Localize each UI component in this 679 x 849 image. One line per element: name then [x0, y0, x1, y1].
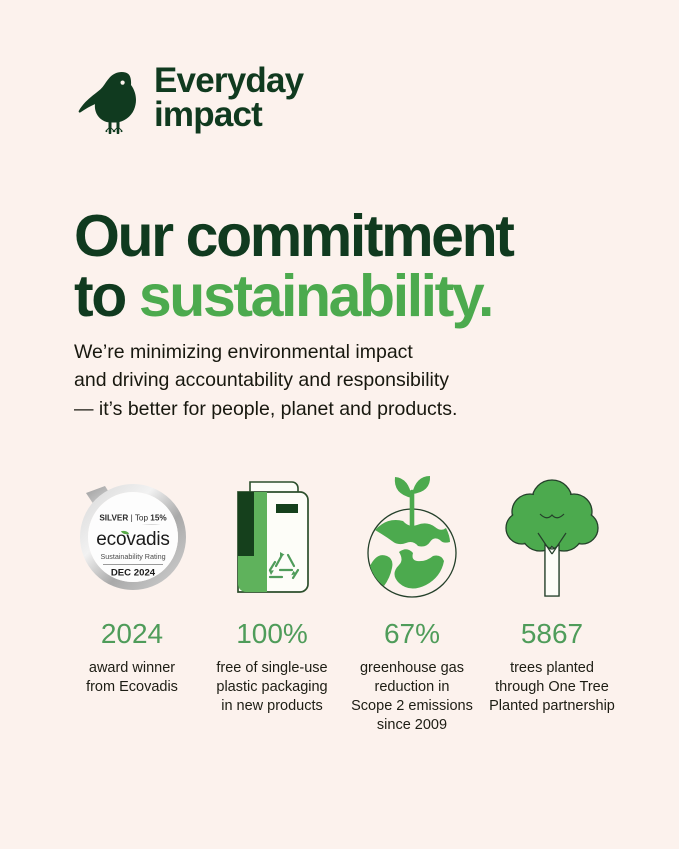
- svg-text:DEC 2024: DEC 2024: [111, 568, 156, 579]
- ecovadis-medal-icon: SILVER | Top 15% ecovadis Sustainability…: [72, 468, 192, 604]
- stat-caption: free of single-use plastic packaging in …: [216, 659, 327, 716]
- brand-name-line2: impact: [154, 98, 303, 132]
- page-title: Our commitment to sustainability.: [74, 206, 634, 326]
- stat-value: 67%: [384, 620, 440, 648]
- tree-icon: [502, 468, 602, 604]
- brand-wordmark: Everyday impact: [154, 64, 303, 133]
- caption-line: greenhouse gas: [351, 659, 473, 678]
- caption-line: since 2009: [351, 716, 473, 735]
- svg-text:ecovadis: ecovadis: [96, 529, 169, 550]
- caption-line: through One Tree: [489, 678, 615, 697]
- stat-caption: trees planted through One Tree Planted p…: [489, 659, 615, 716]
- stats-row: SILVER | Top 15% ecovadis Sustainability…: [62, 468, 622, 736]
- intro-line-2: and driving accountability and responsib…: [74, 366, 594, 395]
- intro-paragraph: We’re minimizing environmental impact an…: [74, 338, 594, 424]
- recyclable-packaging-icon: [224, 468, 320, 604]
- brand-logo: Everyday impact: [78, 62, 303, 134]
- caption-line: reduction in: [351, 678, 473, 697]
- caption-line: free of single-use: [216, 659, 327, 678]
- caption-line: trees planted: [489, 659, 615, 678]
- intro-line-1: We’re minimizing environmental impact: [74, 338, 594, 367]
- stat-value: 2024: [101, 620, 163, 648]
- caption-line: from Ecovadis: [86, 678, 178, 697]
- stat-value: 100%: [236, 620, 308, 648]
- svg-text:Sustainability Rating: Sustainability Rating: [100, 552, 165, 561]
- sustainability-infographic: Everyday impact Our commitment to sustai…: [0, 0, 679, 849]
- svg-text:SILVER | Top 15%: SILVER | Top 15%: [99, 514, 167, 523]
- headline-line2: to sustainability.: [74, 266, 634, 326]
- brand-name-line1: Everyday: [154, 64, 303, 98]
- caption-line: Planted partnership: [489, 697, 615, 716]
- bird-icon: [78, 62, 140, 134]
- caption-line: in new products: [216, 697, 327, 716]
- intro-line-3: — it’s better for people, planet and pro…: [74, 395, 594, 424]
- stat-card-ecovadis: SILVER | Top 15% ecovadis Sustainability…: [62, 468, 202, 697]
- stat-card-packaging: 100% free of single-use plastic packagin…: [202, 468, 342, 716]
- caption-line: Scope 2 emissions: [351, 697, 473, 716]
- stat-caption: award winner from Ecovadis: [86, 659, 178, 697]
- caption-line: award winner: [86, 659, 178, 678]
- stat-caption: greenhouse gas reduction in Scope 2 emis…: [351, 659, 473, 736]
- stat-value: 5867: [521, 620, 583, 648]
- headline-line2-prefix: to: [74, 263, 139, 329]
- headline-line1: Our commitment: [74, 203, 512, 269]
- stat-card-emissions: 67% greenhouse gas reduction in Scope 2 …: [342, 468, 482, 736]
- stat-card-trees: 5867 trees planted through One Tree Plan…: [482, 468, 622, 716]
- headline-accent: sustainability.: [139, 263, 492, 329]
- globe-sprout-icon: [353, 468, 471, 604]
- caption-line: plastic packaging: [216, 678, 327, 697]
